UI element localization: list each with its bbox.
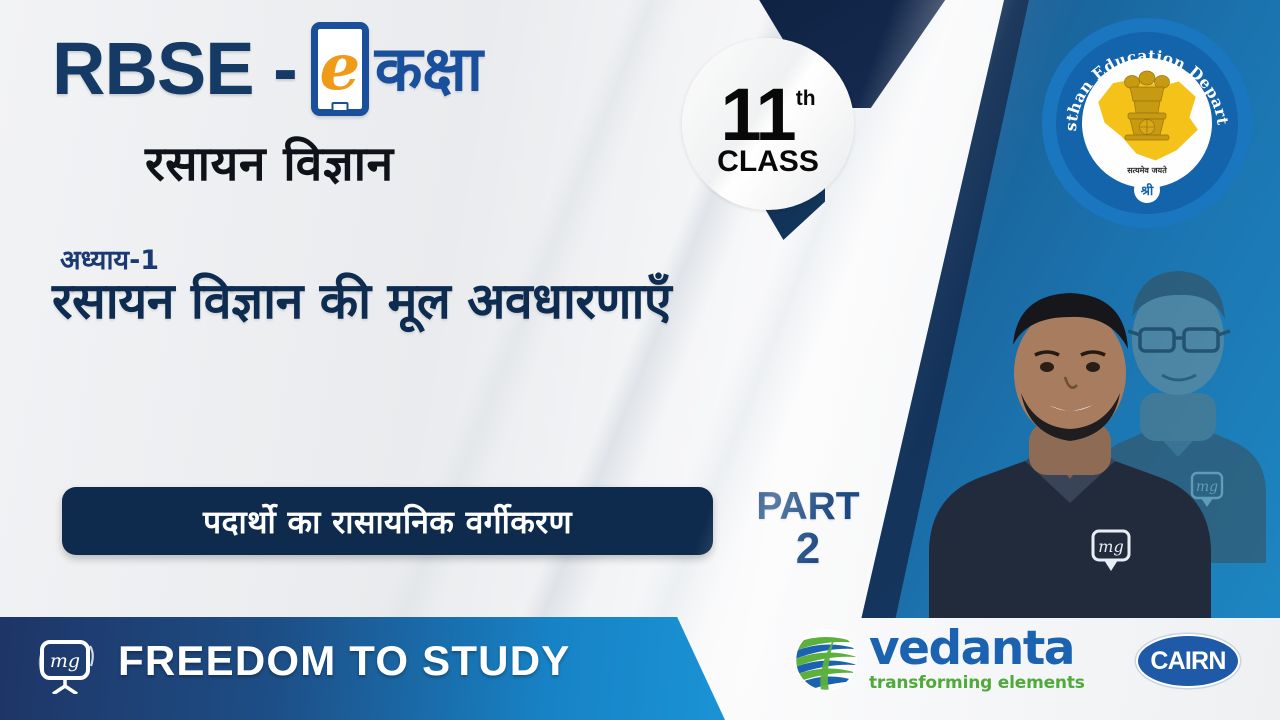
footer-tagline: FREEDOM TO STUDY (118, 640, 570, 682)
brand-prefix-text: RBSE - (52, 32, 297, 106)
brand-kaksha-text: कक्षा (375, 38, 483, 100)
topic-badge: पदार्थो का रासायनिक वर्गीकरण (62, 487, 713, 555)
svg-text:mg: mg (1098, 537, 1123, 556)
part-indicator: PART 2 (738, 487, 878, 572)
class-ordinal-suffix: th (796, 87, 816, 111)
cairn-name: CAIRN (1150, 647, 1225, 676)
department-bottom-mark: श्री (1134, 177, 1160, 203)
cairn-oval-icon: CAIRN (1136, 634, 1240, 688)
instructors-group: mg mg (905, 233, 1280, 618)
vedanta-name: vedanta (869, 627, 1085, 672)
ashoka-lion-capital-icon (1116, 68, 1178, 156)
brand-e-letter: e (319, 41, 360, 95)
department-logo-center: सत्यमेव जयते (1082, 58, 1212, 188)
class-number-row: 11 th (720, 83, 815, 147)
chapter-title: रसायन विज्ञान की मूल अवधारणाएँ (52, 272, 762, 330)
class-number: 11 (720, 83, 794, 147)
class-badge: 11 th CLASS (682, 38, 854, 210)
mobile-phone-icon: e (311, 22, 369, 116)
department-logo: Rajasthan Education Department (1042, 18, 1252, 228)
svg-text:mg: mg (50, 650, 80, 672)
vedanta-tagline: transforming elements (869, 673, 1085, 693)
department-motto: सत्यमेव जयते (1082, 165, 1212, 176)
sponsor-vedanta: vedanta transforming elements (795, 627, 1085, 693)
vedanta-text-block: vedanta transforming elements (869, 627, 1085, 693)
class-word-label: CLASS (717, 145, 819, 179)
instructor-front: mg (925, 281, 1215, 618)
part-number: 2 (738, 526, 878, 572)
topic-badge-text: पदार्थो का रासायनिक वर्गीकरण (203, 500, 572, 543)
mg-blackboard-icon: mg (36, 638, 98, 694)
thumbnail-canvas: RBSE - e कक्षा रसायन विज्ञान 11 th CLASS… (0, 0, 1280, 720)
subject-title: रसायन विज्ञान (145, 130, 394, 195)
part-label: PART (738, 487, 878, 526)
brand-logo: RBSE - e कक्षा (52, 22, 483, 116)
department-logo-ring: Rajasthan Education Department (1056, 32, 1238, 214)
vedanta-globe-icon (795, 629, 857, 691)
